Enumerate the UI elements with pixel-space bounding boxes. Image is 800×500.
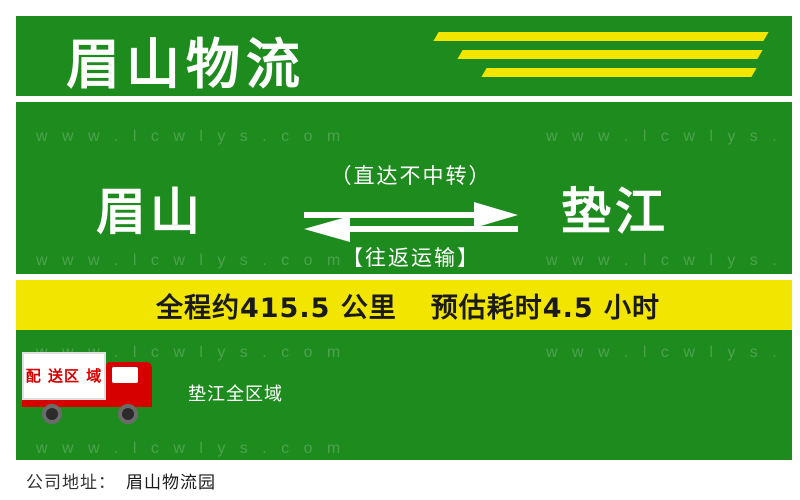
decor-stripe-1 [433,32,768,41]
banner-inner: 眉山物流 w w w . l c w l y s . c o m w w w .… [16,16,800,500]
roundtrip-note: 【往返运输】 [306,242,516,272]
watermark-text: w w w . l c w l y s . c o m [36,252,345,270]
banner-header: 眉山物流 [16,16,800,96]
watermark-text: w w w . l c w l y s . c o m [36,440,345,458]
truck-box-label: 配 送 区 域 [24,354,104,398]
duration-text: 预估耗时4.5 小时 [431,286,660,325]
distance-text: 全程约415.5 公里 [156,286,397,325]
brand-title: 眉山物流 [66,20,306,99]
origin-city: 眉山 [96,172,204,244]
coverage-text: 垫江全区域 [188,380,283,406]
watermark-text: w w w . l c w l y s . c o m [546,344,800,362]
watermark-text: w w w . l c w l y s . c o m [546,128,800,146]
destination-city: 垫江 [561,172,669,244]
decor-stripe-2 [457,50,762,59]
banner-footer: 公司地址： 眉山物流园 [16,460,800,500]
truck-cargo-box: 配 送 区 域 [22,352,106,400]
info-bar: 全程约415.5 公里 预估耗时4.5 小时 [16,280,800,330]
watermark-text: w w w . l c w l y s . c o m [36,128,345,146]
decor-stripe-3 [481,68,756,77]
route-section: w w w . l c w l y s . c o m w w w . l c … [16,102,800,274]
coverage-section: w w w . l c w l y s . c o m w w w . l c … [16,330,800,460]
truck-wheel [42,404,62,424]
watermark-text: w w w . l c w l y s . c o m [546,252,800,270]
delivery-truck-icon: 配 送 区 域 [22,352,172,424]
truck-label-line1: 配 送 [26,367,64,385]
truck-window [112,367,138,383]
direct-note: （直达不中转） [306,160,516,190]
address-value: 眉山物流园 [126,468,216,493]
address-label: 公司地址： [26,468,116,493]
truck-label-line2: 区 域 [64,367,102,385]
truck-wheel [118,404,138,424]
two-way-arrow-icon [304,198,518,236]
logistics-banner: 眉山物流 w w w . l c w l y s . c o m w w w .… [0,0,800,500]
